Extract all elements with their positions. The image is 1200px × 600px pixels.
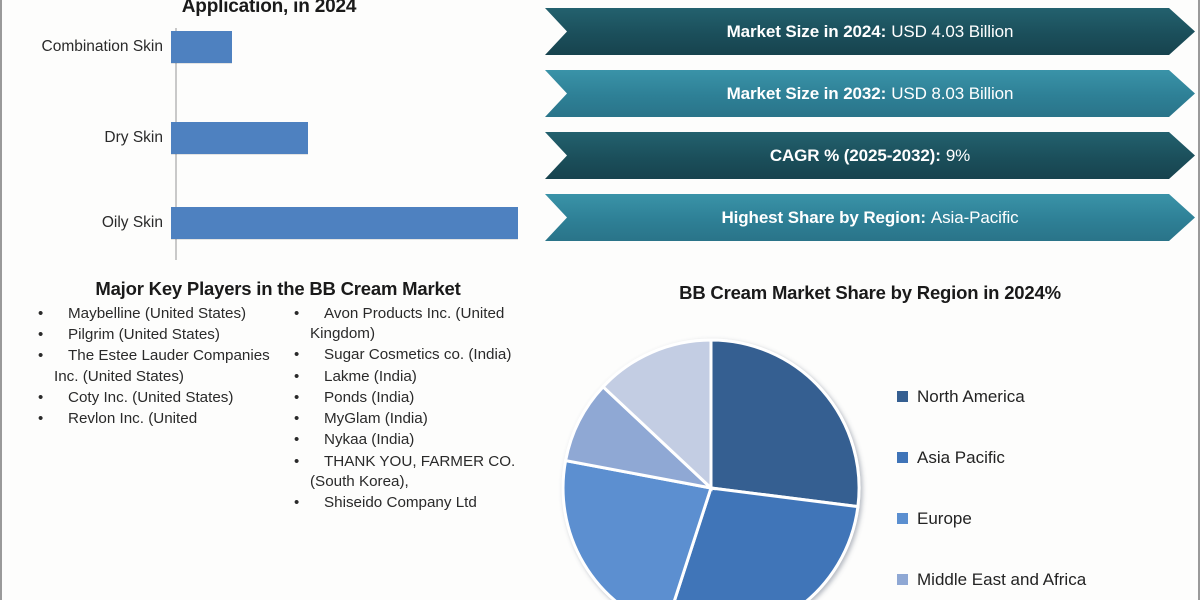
legend-swatch-icon [897, 391, 908, 402]
pie-chart-svg [553, 316, 913, 600]
bar-row: Oily Skin [14, 206, 532, 240]
list-item: Avon Products Inc. (United Kingdom) [294, 304, 540, 344]
bar-row: Dry Skin [14, 121, 532, 155]
legend-swatch-icon [897, 513, 908, 524]
bar-chart-plot: Combination Skin Dry Skin Oily Skin [14, 26, 532, 266]
key-players-column-right: Avon Products Inc. (United Kingdom) Suga… [294, 304, 540, 514]
application-bar-chart: Application, in 2024 Combination Skin Dr… [6, 0, 540, 272]
bar-category-label: Dry Skin [14, 129, 169, 146]
banner-value: USD 8.03 Billion [891, 84, 1013, 104]
legend-swatch-icon [897, 452, 908, 463]
pie-chart-legend: North America Asia Pacific Europe Middle… [897, 366, 1192, 600]
bar-fill-dry-skin [171, 122, 308, 154]
legend-item-north-america: North America [897, 366, 1192, 427]
bar-track [171, 30, 532, 64]
list-item: Coty Inc. (United States) [38, 388, 284, 408]
banner-highest-share-region: Highest Share by Region: Asia-Pacific [545, 194, 1195, 241]
list-item: MyGlam (India) [294, 409, 540, 429]
key-players-heading: Major Key Players in the BB Cream Market [16, 278, 540, 300]
bar-chart-title: Application, in 2024 [6, 0, 532, 18]
legend-item-europe: Europe [897, 488, 1192, 549]
banner-cagr: CAGR % (2025-2032): 9% [545, 132, 1195, 179]
banner-value: Asia-Pacific [931, 208, 1019, 228]
pie-chart-plot [553, 316, 913, 600]
banner-label: Market Size in 2024: [727, 22, 887, 42]
list-item: Sugar Cosmetics co. (India) [294, 345, 540, 365]
banner-market-size-2032: Market Size in 2032: USD 8.03 Billion [545, 70, 1195, 117]
list-item: The Estee Lauder Companies Inc. (United … [38, 346, 284, 386]
key-players-columns: Maybelline (United States) Pilgrim (Unit… [16, 304, 540, 514]
banner-label: Highest Share by Region: [721, 208, 925, 228]
legend-item-middle-east-and-africa: Middle East and Africa [897, 549, 1192, 600]
list-item: Nykaa (India) [294, 430, 540, 450]
legend-item-asia-pacific: Asia Pacific [897, 427, 1192, 488]
bar-category-label: Combination Skin [14, 38, 169, 55]
pie-slice-north-america [711, 340, 859, 507]
list-item: THANK YOU, FARMER CO. (South Korea), [294, 452, 540, 492]
legend-label: Europe [917, 509, 972, 529]
banner-label: CAGR % (2025-2032): [770, 146, 941, 166]
list-item: Pilgrim (United States) [38, 325, 284, 345]
legend-label: Middle East and Africa [917, 570, 1086, 590]
bar-fill-oily-skin [171, 207, 518, 239]
bar-track [171, 121, 532, 155]
legend-label: North America [917, 387, 1025, 407]
bar-track [171, 206, 532, 240]
infographic-page: Application, in 2024 Combination Skin Dr… [0, 0, 1200, 600]
pie-chart-title: BB Cream Market Share by Region in 2024% [545, 282, 1195, 304]
list-item: Maybelline (United States) [38, 304, 284, 324]
banner-market-size-2024: Market Size in 2024: USD 4.03 Billion [545, 8, 1195, 55]
legend-label: Asia Pacific [917, 448, 1005, 468]
bar-fill-combination-skin [171, 31, 232, 63]
list-item: Ponds (India) [294, 388, 540, 408]
list-item: Revlon Inc. (United [38, 409, 284, 429]
bar-row: Combination Skin [14, 30, 532, 64]
list-item: Lakme (India) [294, 367, 540, 387]
banner-value: USD 4.03 Billion [891, 22, 1013, 42]
key-players-column-left: Maybelline (United States) Pilgrim (Unit… [38, 304, 284, 514]
list-item: Shiseido Company Ltd [294, 493, 540, 513]
key-metrics-banners: Market Size in 2024: USD 4.03 Billion Ma… [545, 8, 1195, 266]
region-share-pie-chart: BB Cream Market Share by Region in 2024% [545, 274, 1195, 600]
banner-label: Market Size in 2032: [727, 84, 887, 104]
legend-swatch-icon [897, 574, 908, 585]
key-players-section: Major Key Players in the BB Cream Market… [16, 274, 540, 600]
banner-value: 9% [946, 146, 970, 166]
bar-category-label: Oily Skin [14, 214, 169, 231]
